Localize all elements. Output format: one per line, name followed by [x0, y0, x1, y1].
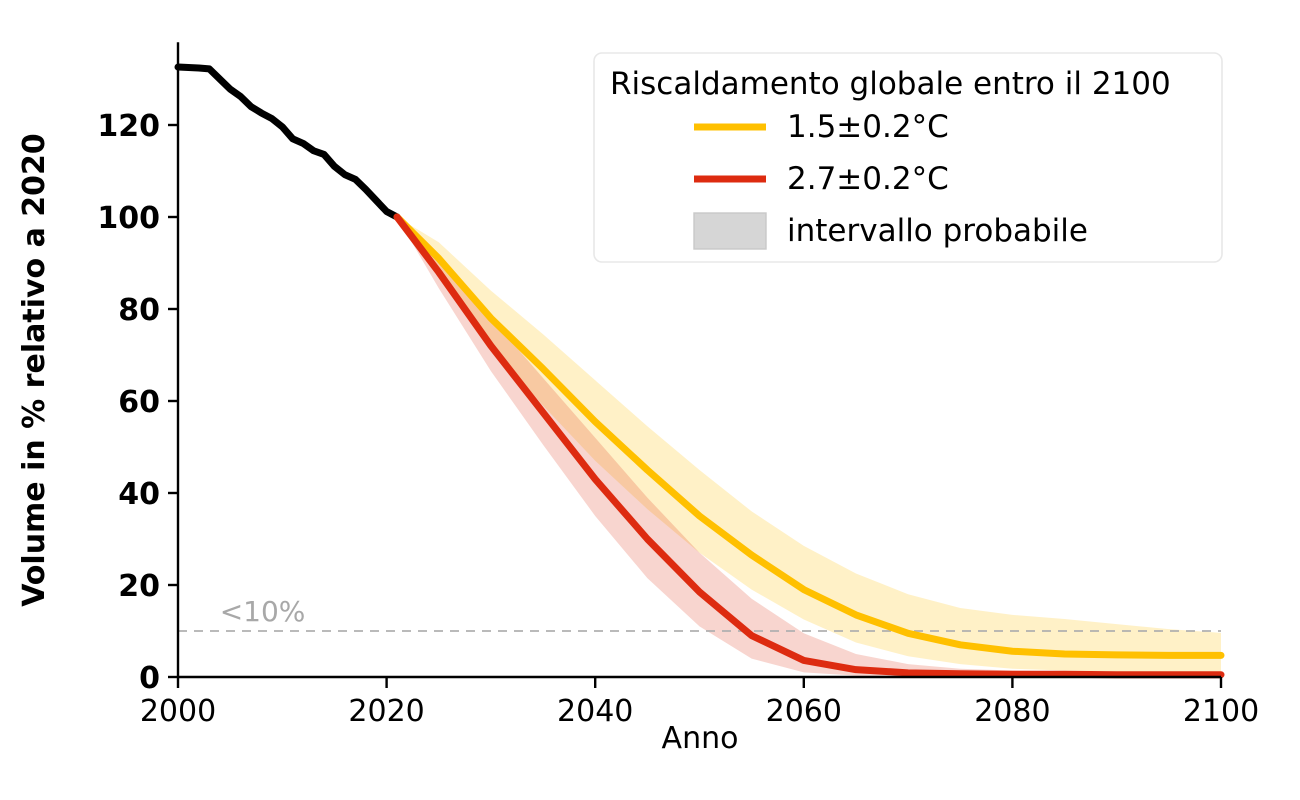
x-tick-label: 2020 [348, 694, 424, 729]
legend: Riscaldamento globale entro il 21001.5±0… [594, 53, 1222, 262]
uncertainty-band-1.5C [397, 217, 1221, 672]
y-tick-label: 120 [97, 109, 160, 144]
chart-figure: <10% 02040608010012020002020204020602080… [0, 0, 1300, 800]
x-tick-label: 2080 [974, 694, 1050, 729]
y-tick-label: 20 [118, 569, 160, 604]
series-line-storico [178, 67, 397, 217]
y-tick-label: 40 [118, 477, 160, 512]
x-tick-label: 2100 [1183, 694, 1259, 729]
x-tick-label: 2060 [766, 694, 842, 729]
x-tick-label: 2000 [140, 694, 216, 729]
threshold-label: <10% [220, 595, 306, 628]
legend-swatch-patch-2 [694, 213, 766, 249]
legend-label-0: 1.5±0.2°C [787, 109, 949, 145]
y-tick-label: 80 [118, 293, 160, 328]
legend-title: Riscaldamento globale entro il 2100 [610, 66, 1171, 102]
y-tick-label: 100 [97, 201, 160, 236]
series-line-1.5C [397, 217, 1221, 655]
x-tick-label: 2040 [557, 694, 633, 729]
x-axis-title: Anno [662, 721, 739, 756]
y-axis-title: Volume in % relativo a 2020 [17, 133, 52, 607]
legend-label-2: intervallo probabile [787, 213, 1088, 249]
legend-label-1: 2.7±0.2°C [787, 161, 949, 197]
y-tick-label: 0 [139, 661, 160, 696]
y-tick-label: 60 [118, 385, 160, 420]
band-layer [397, 217, 1221, 677]
chart-svg: <10% 02040608010012020002020204020602080… [0, 0, 1300, 800]
